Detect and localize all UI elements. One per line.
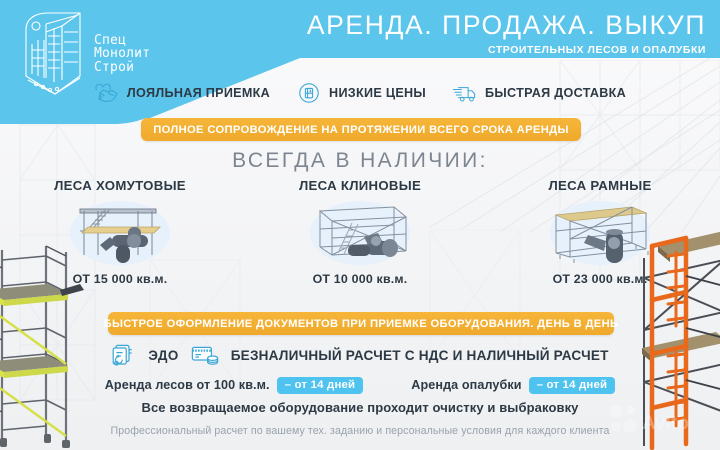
page-subtitle: СТРОИТЕЛЬНЫХ ЛЕСОВ И ОПАЛУБКИ: [307, 44, 706, 56]
section-heading-in-stock: ВСЕГДА В НАЛИЧИИ:: [0, 149, 720, 173]
banner-full-support: ПОЛНОЕ СОПРОВОЖДЕНИЕ НА ПРОТЯЖЕНИИ ВСЕГО…: [141, 118, 581, 141]
svg-text:Avito: Avito: [642, 413, 689, 434]
benefit-item-fast-delivery: БЫСТРАЯ ДОСТАВКА: [452, 82, 626, 104]
low-price-tag-icon: [296, 82, 322, 104]
rent-term-formwork: Аренда опалубки – от 14 дней: [411, 377, 615, 394]
term-label: Аренда опалубки: [411, 378, 521, 392]
rent-term-scaffolding: Аренда лесов от 100 кв.м. – от 14 дней: [105, 377, 364, 394]
product-card-wedge[interactable]: ЛЕСА КЛИНОВЫЕ: [240, 178, 480, 300]
handshake-heart-icon: [94, 82, 120, 104]
payment-label: БЕЗНАЛИЧНЫЙ РАСЧЕТ С НДС И НАЛИЧНЫЙ РАСЧ…: [231, 348, 609, 363]
wedge-scaffolding-image: [290, 197, 430, 269]
benefit-item-loyal-acceptance: ЛОЯЛЬНАЯ ПРИЕМКА: [94, 82, 270, 104]
electronic-document-flow-icon: [111, 342, 137, 368]
benefit-item-low-prices: НИЗКИЕ ЦЕНЫ: [296, 82, 426, 104]
product-title: ЛЕСА КЛИНОВЫЕ: [299, 178, 421, 193]
term-badge: – от 14 дней: [529, 377, 616, 394]
brand-name-line-3: Строй: [94, 61, 150, 74]
brand-name: Спец Монолит Строй: [94, 34, 150, 74]
card-and-cash-icon: [190, 342, 220, 368]
benefits-row: ЛОЯЛЬНАЯ ПРИЕМКА НИЗКИЕ ЦЕНЫ: [0, 76, 720, 110]
banner-text: БЫСТРОЕ ОФОРМЛЕНИЕ ДОКУМЕНТОВ ПРИ ПРИЕМК…: [104, 318, 619, 330]
benefit-label: ЛОЯЛЬНАЯ ПРИЕМКА: [127, 86, 270, 100]
brand-name-line-1: Спец: [94, 34, 150, 47]
page-title: АРЕНДА. ПРОДАЖА. ВЫКУП: [307, 12, 706, 40]
banner-fast-documents: БЫСТРОЕ ОФОРМЛЕНИЕ ДОКУМЕНТОВ ПРИ ПРИЕМК…: [108, 312, 614, 335]
benefit-label: НИЗКИЕ ЦЕНЫ: [329, 86, 426, 100]
benefit-label: БЫСТРАЯ ДОСТАВКА: [485, 86, 626, 100]
edo-label: ЭДО: [148, 348, 178, 363]
banner-text: ПОЛНОЕ СОПРОВОЖДЕНИЕ НА ПРОТЯЖЕНИИ ВСЕГО…: [153, 124, 569, 136]
header-title-block: АРЕНДА. ПРОДАЖА. ВЫКУП СТРОИТЕЛЬНЫХ ЛЕСО…: [307, 12, 706, 56]
advertisement-poster: Спец Монолит Строй АРЕНДА. ПРОДАЖА. ВЫКУ…: [0, 0, 720, 450]
product-title: ЛЕСА РАМНЫЕ: [548, 178, 651, 193]
brand-name-line-2: Монолит: [94, 47, 150, 60]
avito-watermark: Avito: [608, 402, 712, 436]
term-badge: – от 14 дней: [277, 377, 364, 394]
mobile-tower-scaffold-photo: [0, 232, 110, 450]
product-price: ОТ 10 000 кв.м.: [313, 272, 408, 286]
delivery-truck-icon: [452, 82, 478, 104]
term-label: Аренда лесов от 100 кв.м.: [105, 378, 270, 392]
product-title: ЛЕСА ХОМУТОВЫЕ: [54, 178, 186, 193]
